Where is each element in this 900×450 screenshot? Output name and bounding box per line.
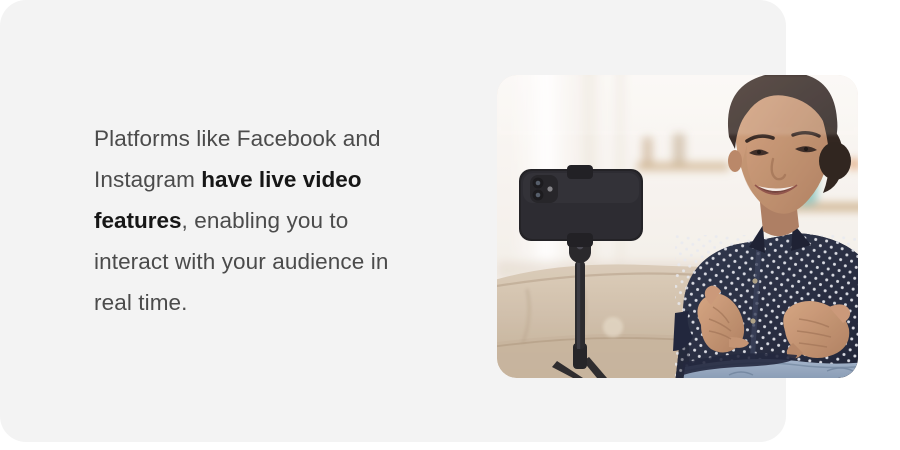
- copy-after-bold: , enabling: [182, 208, 281, 233]
- promo-copy: Platforms like Facebook and Instagram ha…: [94, 118, 424, 323]
- live-video-photo: [497, 75, 858, 378]
- copy-line-1: Platforms like Facebook: [94, 126, 336, 151]
- copy-bold-1: have live: [201, 167, 296, 192]
- photo-illustration: [497, 75, 858, 378]
- screenshot-stage: Platforms like Facebook and Instagram ha…: [0, 0, 900, 450]
